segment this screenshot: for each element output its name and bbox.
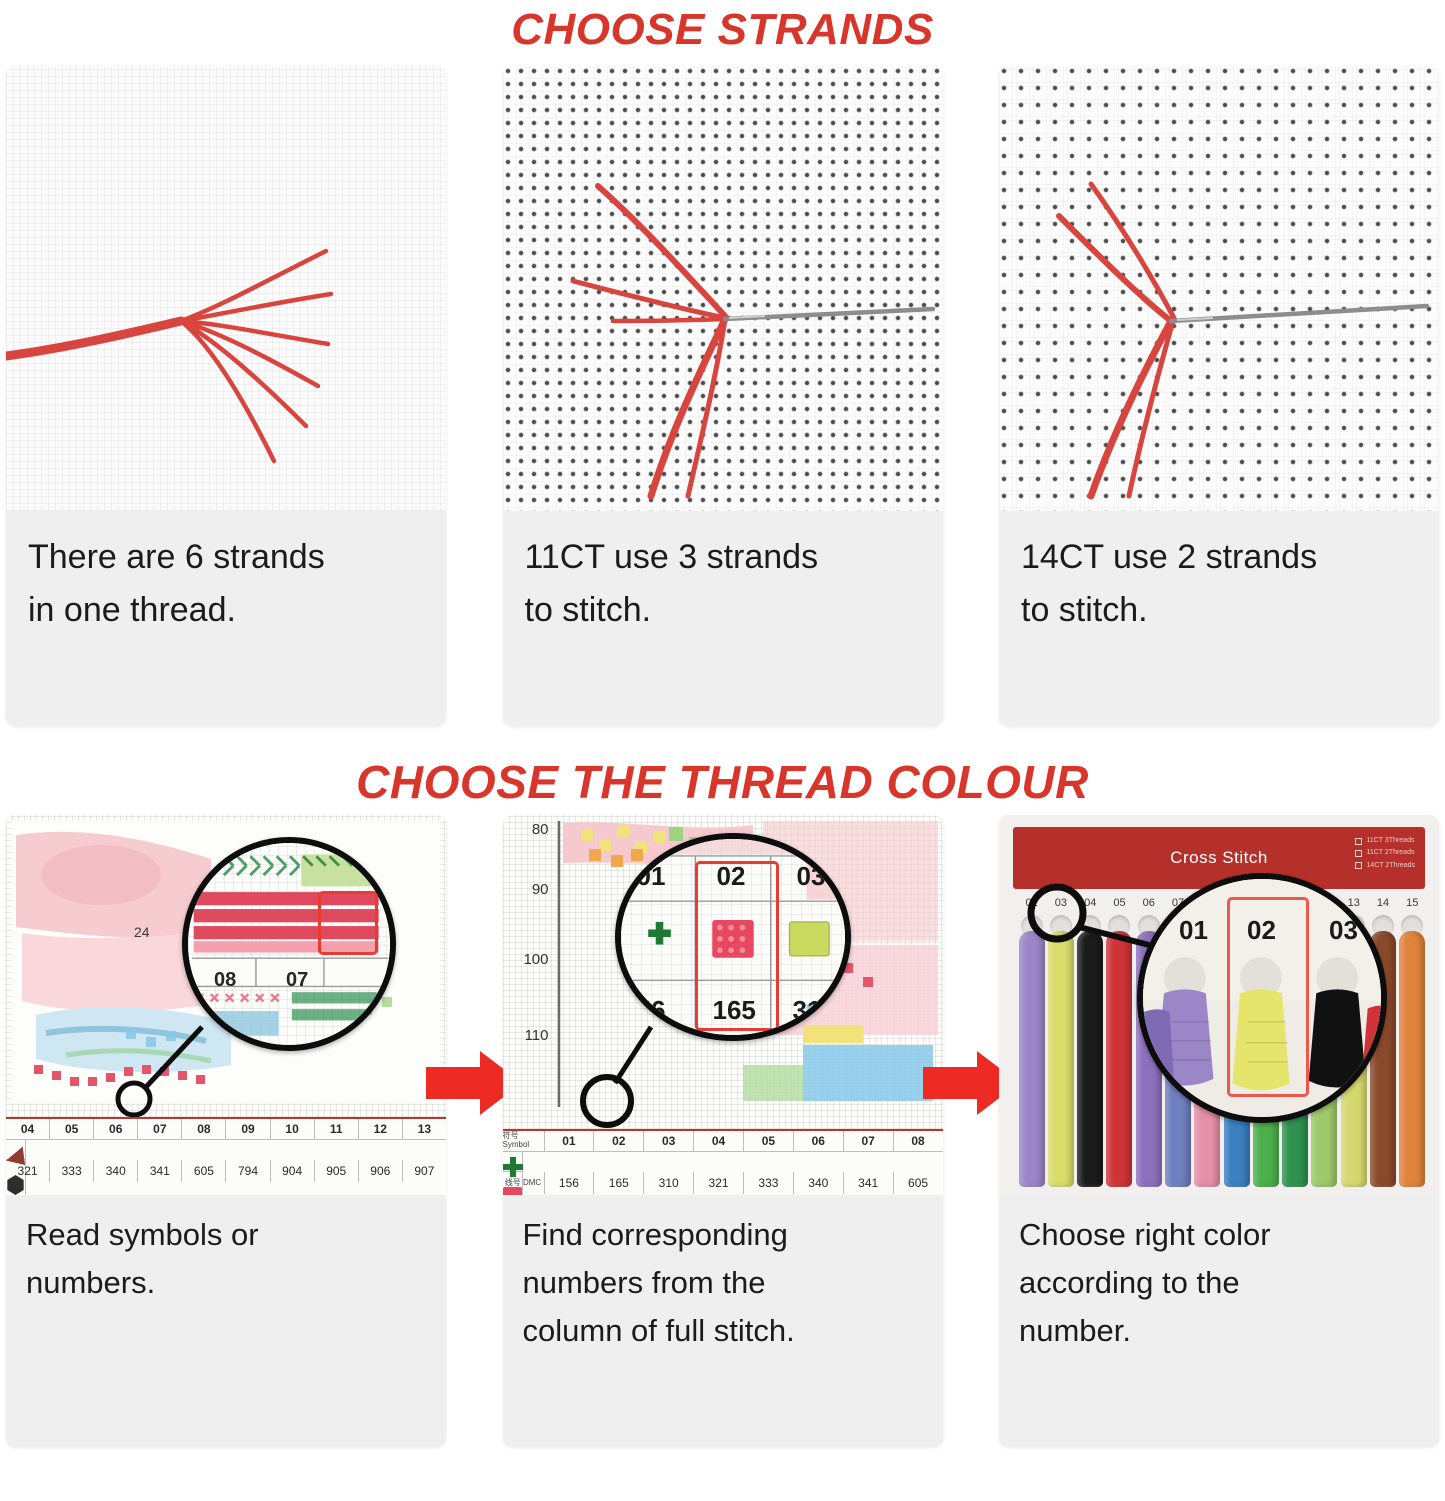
photo-14ct-aida [999, 66, 1439, 511]
legend-col-header: 05 [50, 1119, 94, 1139]
legend-col-header: 01 [545, 1131, 595, 1151]
caption-line: number. [1019, 1307, 1419, 1355]
legend-dmc-number: 333 [744, 1172, 794, 1194]
legend-col-header: 07 [844, 1131, 894, 1151]
magnified-dmc-number: 165 [713, 995, 756, 1026]
legend-dmc-number: 907 [403, 1160, 446, 1182]
caption-line: 14CT use 2 strands [1021, 531, 1417, 584]
chart-row-labels: 80 90 100 110 [507, 819, 551, 1109]
legend-col-header: 13 [403, 1119, 446, 1139]
card-read-symbols[interactable]: 24 [6, 815, 446, 1447]
magnified-column-number: 01 [1179, 915, 1208, 946]
card-find-numbers[interactable]: 80 90 100 110 [503, 815, 943, 1447]
option-row: 14CT 2Threads [1355, 860, 1415, 872]
caption-line: numbers. [26, 1259, 426, 1307]
photo-pattern-chart-symbols: 24 [6, 815, 446, 1195]
caption-choose-color: Choose right color according to the numb… [999, 1195, 1439, 1365]
legend-table-symbols: 04 05 06 07 08 09 10 11 12 13 [6, 1117, 446, 1195]
legend-dmc-number: 340 [794, 1172, 844, 1194]
legend-number-row: 321 333 340 341 605 794 904 905 906 907 [6, 1160, 446, 1182]
split-thread-illustration [6, 66, 446, 511]
legend-dmc-number: 310 [644, 1172, 694, 1194]
caption-read-symbols: Read symbols or numbers. [6, 1195, 446, 1317]
legend-col-header: 05 [744, 1131, 794, 1151]
thread-card-title: Cross Stitch [1170, 848, 1268, 868]
option-label: 11CT 3Threads [1366, 835, 1414, 847]
legend-col-header: 08 [894, 1131, 943, 1151]
legend-dmc-number: 165 [594, 1172, 644, 1194]
magnified-column-number: 03 [797, 861, 826, 892]
legend-dmc-number: 904 [271, 1160, 315, 1182]
option-label: 11CT 2Threads [1366, 847, 1414, 859]
legend-dmc-number: 605 [182, 1160, 226, 1182]
legend-dmc-number: 794 [226, 1160, 270, 1182]
caption-line: There are 6 strands [28, 531, 424, 584]
magnified-number: 08 [214, 969, 236, 992]
photo-six-strands [6, 66, 446, 511]
caption-line: Choose right color [1019, 1211, 1419, 1259]
option-row: 11CT 3Threads [1355, 835, 1415, 847]
card-choose-color[interactable]: Cross Stitch 11CT 3Threads 11CT 2Threads… [999, 815, 1439, 1447]
legend-dmc-number: 341 [844, 1172, 894, 1194]
legend-col-header: 06 [94, 1119, 138, 1139]
legend-symbol-row [503, 1152, 523, 1172]
legend-dmc-number: 341 [138, 1160, 182, 1182]
legend-col-header: 03 [644, 1131, 694, 1151]
checkbox-icon[interactable] [1355, 862, 1362, 869]
legend-col-header: 04 [6, 1119, 50, 1139]
magnifier-symbols: 08 07 [182, 837, 396, 1051]
caption-line: to stitch. [1021, 584, 1417, 637]
legend-row-label-symbol: 符号 Symbol [503, 1131, 545, 1151]
section-title-choose-strands: CHOOSE STRANDS [0, 0, 1445, 58]
photo-11ct-aida [503, 66, 943, 511]
magnified-column-number: 01 [637, 861, 666, 892]
chart-row-label: 80 [532, 821, 549, 838]
thread-number: 02 [1017, 897, 1046, 913]
magnified-column-number: 03 [1329, 915, 1358, 946]
card-11ct-three-strands[interactable]: 11CT use 3 strands to stitch. [503, 66, 943, 726]
thread-skein [1017, 931, 1046, 1187]
caption-line: numbers from the [523, 1259, 923, 1307]
caption-line: to stitch. [525, 584, 921, 637]
thread-card-options: 11CT 3Threads 11CT 2Threads 14CT 2Thread… [1355, 835, 1415, 872]
legend-dmc-number: 905 [315, 1160, 359, 1182]
caption-line: in one thread. [28, 584, 424, 637]
magnifier-highlight-rect [318, 891, 378, 955]
caption-14ct: 14CT use 2 strands to stitch. [999, 511, 1439, 650]
thread-number: 05 [1105, 897, 1134, 913]
thread-and-needle-illustration [503, 66, 943, 511]
chart-row-label: 110 [525, 1027, 549, 1044]
thread-number: 03 [1046, 897, 1075, 913]
caption-line: Read symbols or [26, 1211, 426, 1259]
legend-dmc-number: 605 [894, 1172, 943, 1194]
caption-find-numbers: Find corresponding numbers from the colu… [503, 1195, 943, 1365]
legend-table-numbers: 符号 Symbol 01 02 03 04 05 06 07 08 [503, 1129, 943, 1195]
colour-card-row: 24 [0, 811, 1445, 1501]
magnified-column-number: 02 [1247, 915, 1276, 946]
needle [1171, 306, 1427, 321]
thread-number: 15 [1398, 897, 1427, 913]
section-title-choose-thread-colour: CHOOSE THE THREAD COLOUR [0, 743, 1445, 811]
option-label: 14CT 2Threads [1366, 860, 1415, 872]
caption-11ct: 11CT use 3 strands to stitch. [503, 511, 943, 650]
legend-header-row: 04 05 06 07 08 09 10 11 12 13 [6, 1119, 446, 1140]
legend-dmc-number: 156 [545, 1172, 595, 1194]
magnifier-numbers: 01 02 03 56 165 310 [615, 833, 851, 1041]
legend-col-header: 02 [594, 1131, 644, 1151]
legend-dmc-number: 906 [359, 1160, 403, 1182]
card-six-strands[interactable]: There are 6 strands in one thread. [6, 66, 446, 726]
legend-dmc-number: 321 [694, 1172, 744, 1194]
card-14ct-two-strands[interactable]: 14CT use 2 strands to stitch. [999, 66, 1439, 726]
legend-col-header: 11 [315, 1119, 359, 1139]
legend-col-header: 08 [182, 1119, 226, 1139]
needle [725, 309, 933, 319]
option-row: 11CT 2Threads [1355, 847, 1415, 859]
legend-header-row: 符号 Symbol 01 02 03 04 05 06 07 08 [503, 1131, 943, 1152]
magnified-dmc-number: 56 [637, 995, 666, 1026]
legend-dmc-number: 333 [50, 1160, 94, 1182]
legend-number-row: 线号 DMC 156 165 310 321 333 340 341 605 [503, 1172, 943, 1194]
legend-col-header: 09 [226, 1119, 270, 1139]
legend-col-header: 04 [694, 1131, 744, 1151]
caption-line: Find corresponding [523, 1211, 923, 1259]
caption-line: 11CT use 3 strands [525, 531, 921, 584]
strands-card-row: There are 6 strands in one thread. [0, 58, 1445, 743]
caption-six-strands: There are 6 strands in one thread. [6, 511, 446, 650]
legend-col-header: 07 [138, 1119, 182, 1139]
thread-skein [1076, 931, 1105, 1187]
caption-line: according to the [1019, 1259, 1419, 1307]
thread-number: 04 [1076, 897, 1105, 913]
photo-pattern-chart-numbers: 80 90 100 110 [503, 815, 943, 1195]
thread-skein [1398, 931, 1427, 1187]
magnifier-thread-colors: 01 02 03 [1137, 873, 1387, 1123]
magnified-dmc-number: 310 [793, 995, 836, 1026]
svg-text:24: 24 [134, 924, 150, 940]
thread-and-needle-illustration [999, 66, 1439, 511]
legend-symbol-row [6, 1140, 26, 1160]
caption-line: column of full stitch. [523, 1307, 923, 1355]
magnified-column-number: 02 [717, 861, 746, 892]
chart-row-label: 90 [532, 881, 549, 898]
symbol-cross-icon [503, 1157, 522, 1177]
checkbox-icon[interactable] [1355, 850, 1362, 857]
legend-col-header: 12 [359, 1119, 403, 1139]
thread-skein [1105, 931, 1134, 1187]
chart-row-label: 100 [523, 951, 548, 968]
legend-col-header: 06 [794, 1131, 844, 1151]
photo-thread-card: Cross Stitch 11CT 3Threads 11CT 2Threads… [999, 815, 1439, 1195]
legend-dmc-number: 340 [94, 1160, 138, 1182]
thread-skein [1046, 931, 1075, 1187]
legend-col-header: 10 [271, 1119, 315, 1139]
checkbox-icon[interactable] [1355, 838, 1362, 845]
magnified-number: 07 [286, 969, 308, 992]
